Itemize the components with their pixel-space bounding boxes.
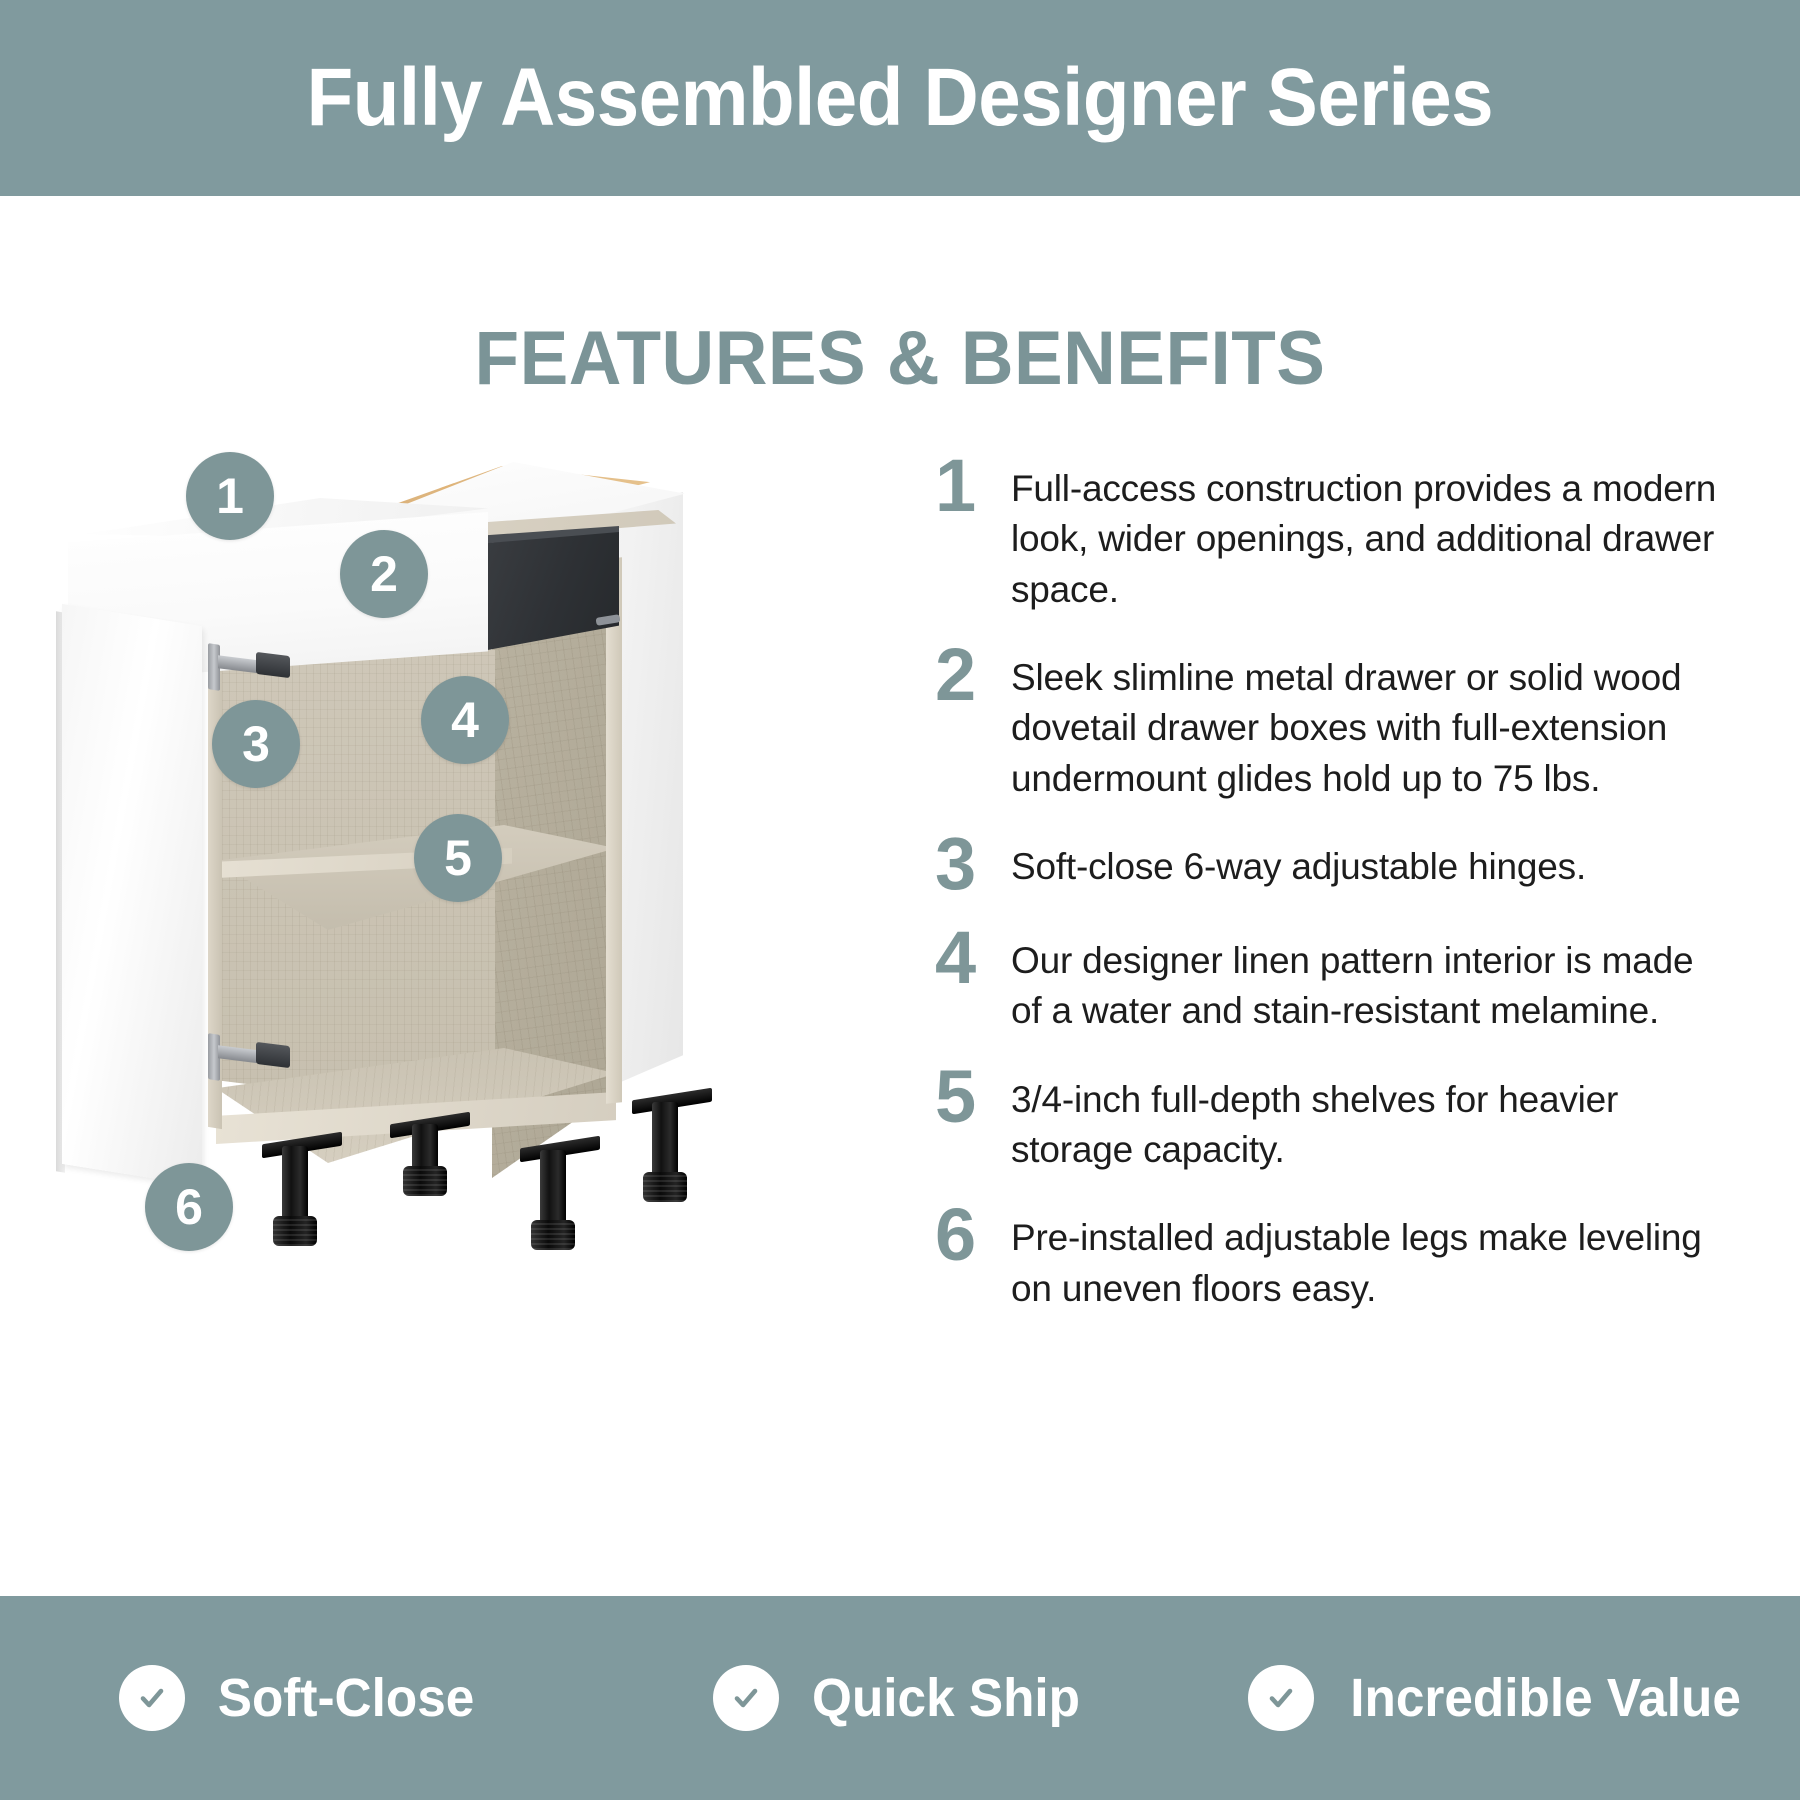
feature-number: 2: [935, 639, 1011, 709]
feature-item-2: 2 Sleek slimline metal drawer or solid w…: [935, 639, 1725, 804]
feature-item-1: 1 Full-access construction provides a mo…: [935, 450, 1725, 615]
feature-description: Pre-installed adjustable legs make level…: [1011, 1199, 1725, 1314]
footer-badge-label: Soft-Close: [218, 1667, 475, 1729]
footer-badge-label: Quick Ship: [812, 1667, 1080, 1729]
footer-badge-label: Incredible Value: [1351, 1667, 1742, 1729]
callout-badge-5[interactable]: 5: [414, 814, 502, 902]
check-circle-icon: [119, 1665, 185, 1731]
callout-number: 2: [370, 549, 398, 599]
callout-badge-1[interactable]: 1: [186, 452, 274, 540]
feature-item-4: 4 Our designer linen pattern interior is…: [935, 922, 1725, 1037]
callout-badge-6[interactable]: 6: [145, 1163, 233, 1251]
callout-number: 1: [216, 471, 244, 521]
infographic-page: Fully Assembled Designer Series FEATURES…: [0, 0, 1800, 1800]
callout-number: 6: [175, 1182, 203, 1232]
feature-description: Our designer linen pattern interior is m…: [1011, 922, 1725, 1037]
feature-number: 6: [935, 1199, 1011, 1269]
adjustable-leg: [652, 1102, 678, 1176]
feature-number: 3: [935, 828, 1011, 898]
feature-item-6: 6 Pre-installed adjustable legs make lev…: [935, 1199, 1725, 1314]
feature-description: Soft-close 6-way adjustable hinges.: [1011, 828, 1725, 892]
hinge-cup: [256, 652, 290, 678]
feature-item-5: 5 3/4-inch full-depth shelves for heavie…: [935, 1061, 1725, 1176]
check-circle-icon: [713, 1665, 779, 1731]
footer-badge-incredible-value: Incredible Value: [1200, 1665, 1800, 1731]
section-title: FEATURES & BENEFITS: [36, 315, 1764, 402]
header-banner: Fully Assembled Designer Series: [0, 0, 1800, 196]
feature-description: Full-access construction provides a mode…: [1011, 450, 1725, 615]
feature-number: 4: [935, 922, 1011, 992]
footer-banner: Soft-Close Quick Ship Incredible Value: [0, 1596, 1800, 1800]
callout-badge-2[interactable]: 2: [340, 530, 428, 618]
adjustable-leg: [282, 1146, 308, 1220]
hinge-cup: [256, 1042, 290, 1068]
soft-close-hinge-top: [208, 650, 294, 684]
callout-badge-3[interactable]: 3: [212, 700, 300, 788]
adjustable-leg: [412, 1124, 438, 1170]
callout-number: 3: [242, 719, 270, 769]
soft-close-hinge-bottom: [208, 1040, 294, 1074]
feature-item-3: 3 Soft-close 6-way adjustable hinges.: [935, 828, 1725, 898]
callout-badge-4[interactable]: 4: [421, 676, 509, 764]
callout-number: 5: [444, 833, 472, 883]
callout-number: 4: [451, 695, 479, 745]
page-title: Fully Assembled Designer Series: [307, 51, 1493, 145]
footer-badge-soft-close: Soft-Close: [0, 1665, 600, 1731]
feature-number: 1: [935, 450, 1011, 520]
cabinet-door-panel: [62, 604, 202, 1186]
feature-description: Sleek slimline metal drawer or solid woo…: [1011, 639, 1725, 804]
adjustable-leg: [540, 1150, 566, 1224]
footer-badge-quick-ship: Quick Ship: [600, 1665, 1200, 1731]
features-list: 1 Full-access construction provides a mo…: [935, 450, 1725, 1338]
cabinet-front-right-stile: [606, 557, 622, 1103]
feature-description: 3/4-inch full-depth shelves for heavier …: [1011, 1061, 1725, 1176]
feature-number: 5: [935, 1061, 1011, 1131]
check-circle-icon: [1248, 1665, 1314, 1731]
